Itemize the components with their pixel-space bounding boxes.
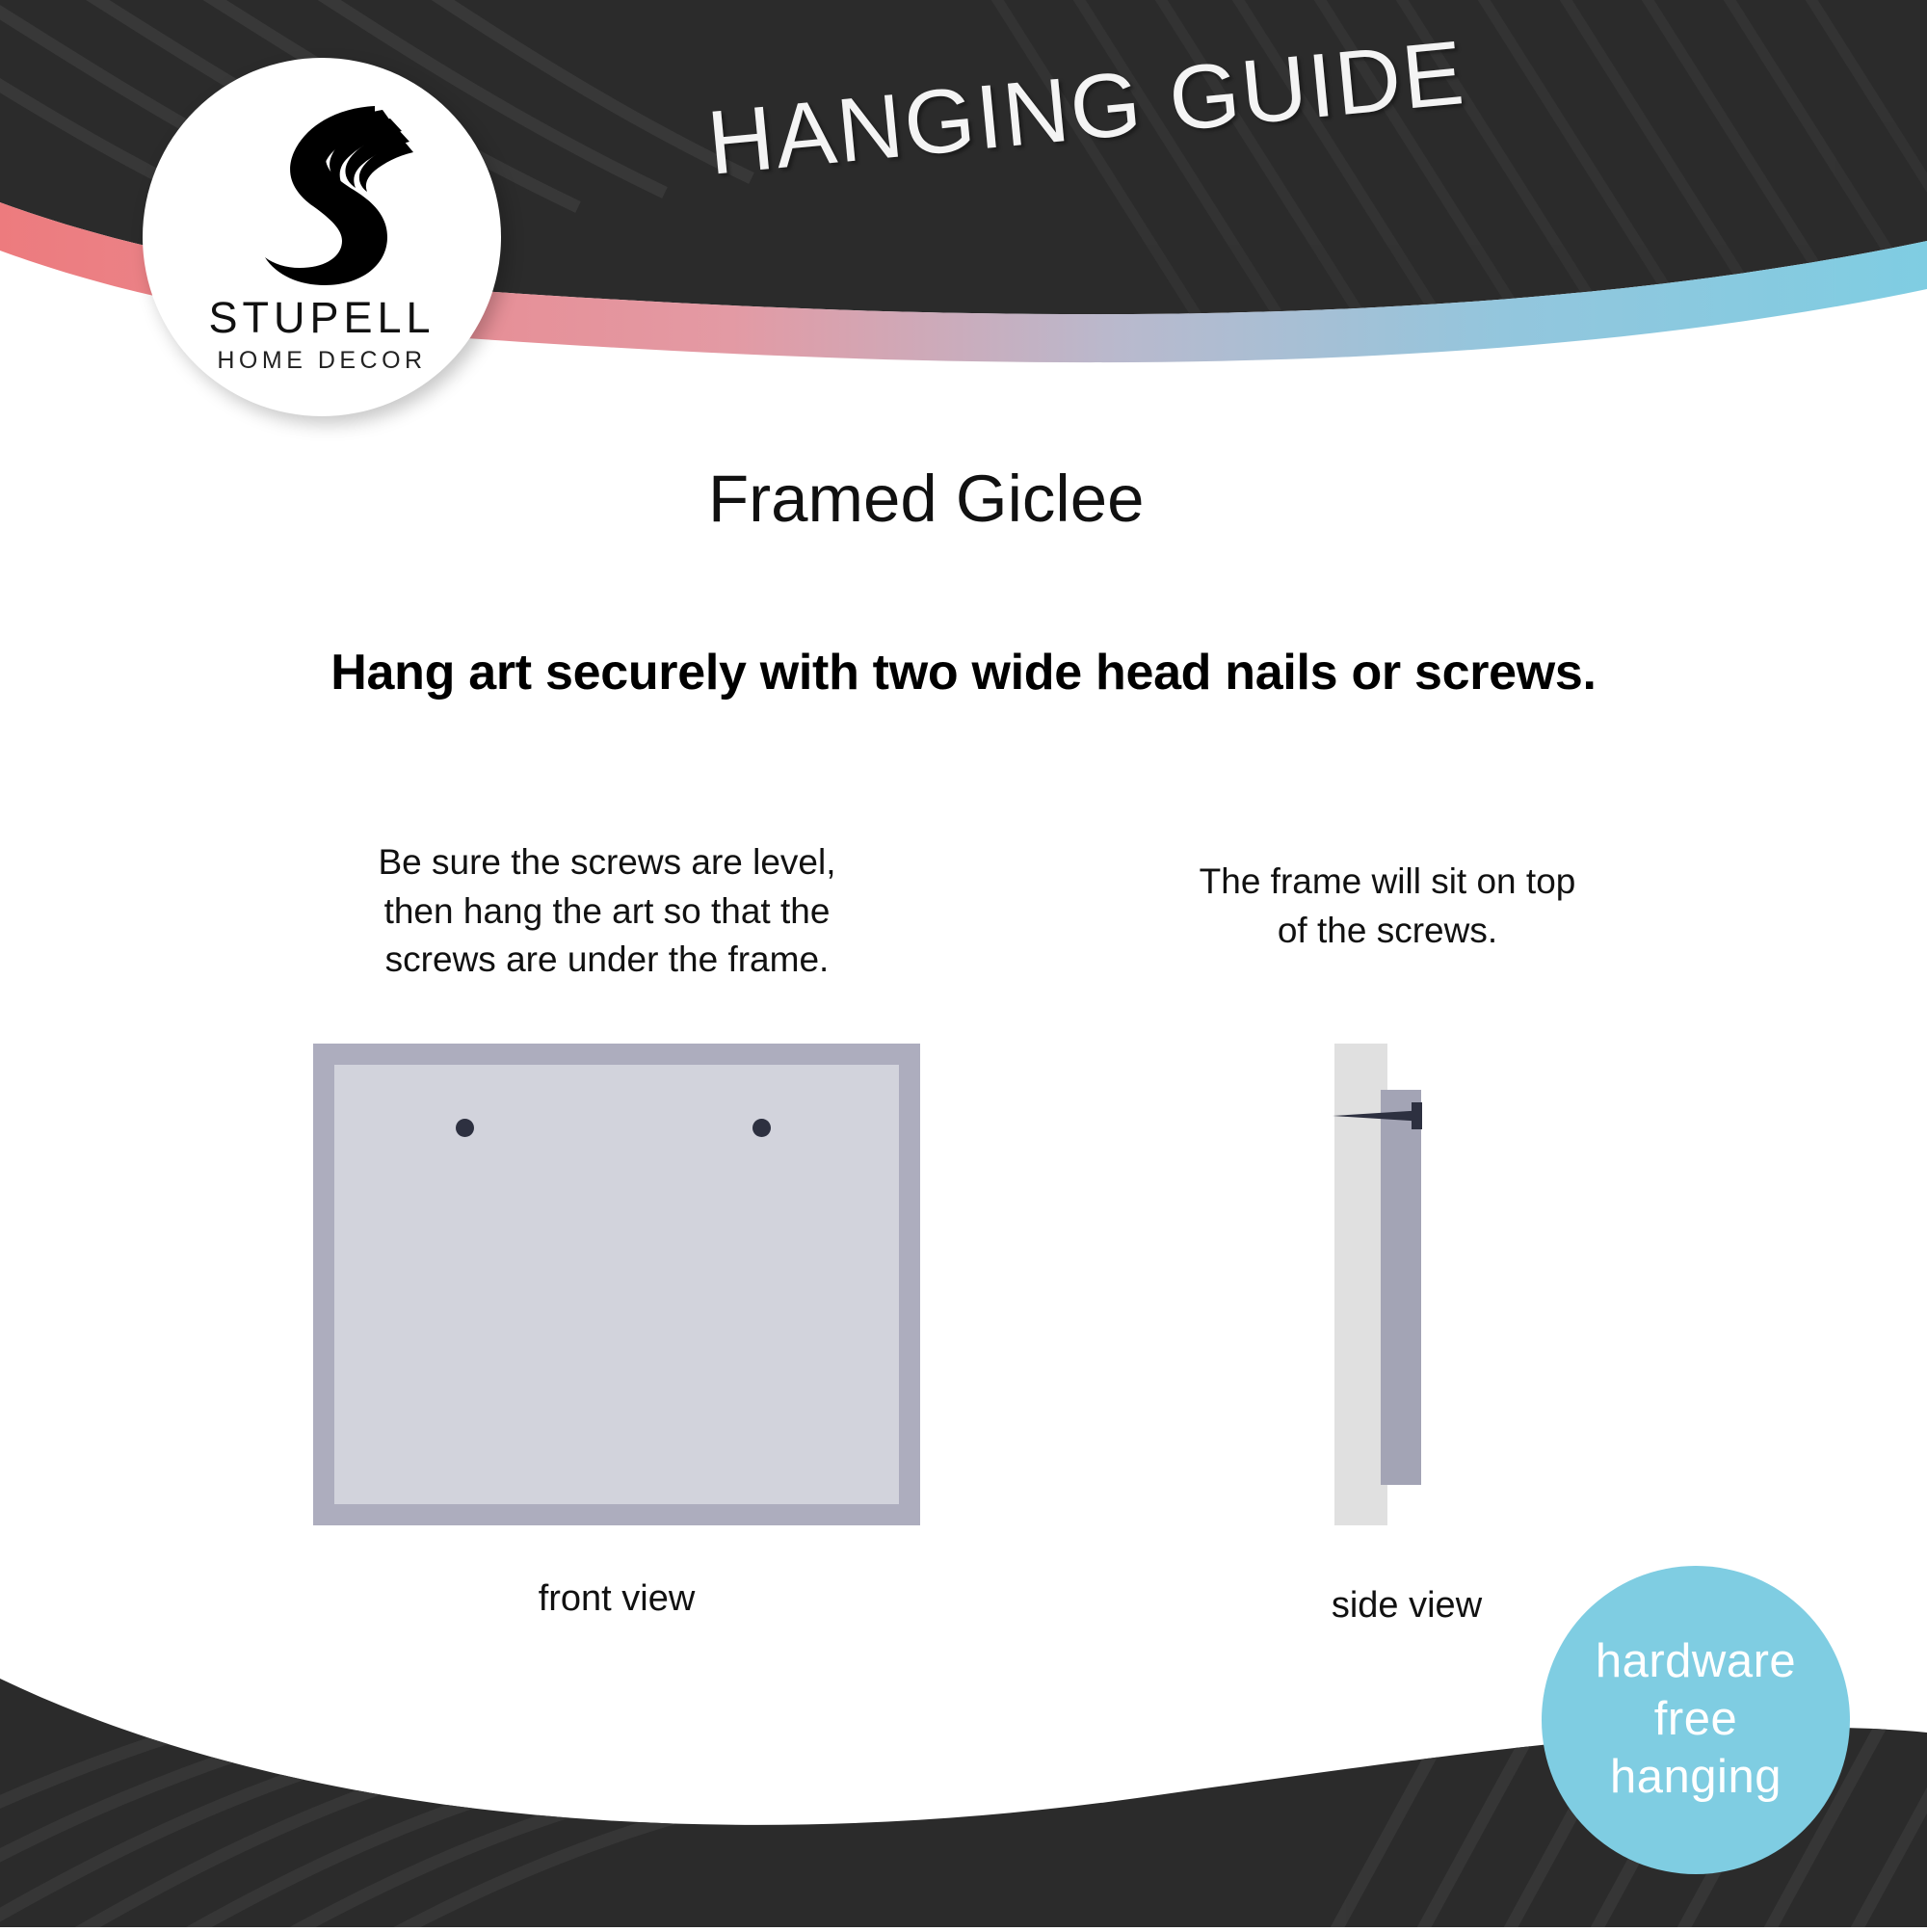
front-view-artwork-area (334, 1065, 899, 1504)
screw-dot-right (752, 1119, 771, 1137)
screw-dot-left (456, 1119, 474, 1137)
logo-brand-subtitle: HOME DECOR (217, 347, 426, 375)
side-view-caption: The frame will sit on top of the screws. (1118, 858, 1657, 955)
front-view-caption-line-1: Be sure the screws are level, (289, 838, 925, 887)
badge-line-1: hardware (1596, 1633, 1796, 1691)
lead-instruction: Hang art securely with two wide head nai… (0, 644, 1927, 701)
front-view-caption-line-2: then hang the art so that the (289, 887, 925, 937)
front-view-diagram (313, 1044, 920, 1525)
frame-side-strip (1381, 1090, 1421, 1485)
side-view-diagram (1334, 1044, 1489, 1525)
side-view-caption-line-2: of the screws. (1118, 907, 1657, 956)
badge-line-2: free (1654, 1691, 1737, 1749)
stupell-swoosh-icon (230, 94, 413, 287)
badge-line-3: hanging (1610, 1749, 1782, 1807)
front-view-caption: Be sure the screws are level, then hang … (289, 838, 925, 985)
product-type-heading: Framed Giclee (708, 461, 1144, 537)
front-view-caption-line-3: screws are under the frame. (289, 936, 925, 985)
hanging-guide-page: HANGING GUIDE STUPELL HOME DECOR Framed … (0, 0, 1927, 1927)
nail-icon (1325, 1097, 1450, 1135)
side-view-caption-line-1: The frame will sit on top (1118, 858, 1657, 907)
brand-logo-badge: STUPELL HOME DECOR (143, 58, 501, 416)
hardware-free-hanging-badge: hardware free hanging (1542, 1566, 1850, 1874)
logo-brand-name: STUPELL (208, 293, 435, 343)
